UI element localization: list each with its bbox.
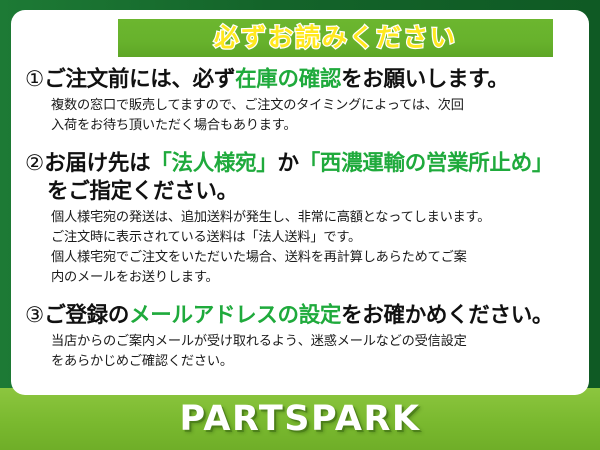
notice-item-3-body: 当店からのご案内メールが受け取れるよう、迷惑メールなどの受信設定 をあらかじめご… bbox=[25, 332, 581, 372]
notice-item-1-body: 複数の窓口で販売してますので、ご注文のタイミングによっては、次回 入荷をお待ち頂… bbox=[25, 96, 581, 136]
item-marker-2: ② bbox=[25, 151, 44, 176]
notice-item-3-heading: ③ご登録のメールアドレスの設定をお確かめください。 bbox=[25, 302, 581, 330]
item-3-body-line-2: をあらかじめご確認ください。 bbox=[51, 352, 581, 372]
item-1-heading-part-3: をお願いします。 bbox=[341, 67, 508, 92]
item-3-heading-highlight: メールアドレスの設定 bbox=[129, 303, 341, 328]
notice-content-card: 必ずお読みください ①ご注文前には、必ず在庫の確認をお願いします。 複数の窓口で… bbox=[11, 10, 589, 395]
notice-items-list: ①ご注文前には、必ず在庫の確認をお願いします。 複数の窓口で販売してますので、ご… bbox=[11, 64, 589, 372]
page-title: 必ずお読みください bbox=[118, 19, 553, 57]
notice-item-3: ③ご登録のメールアドレスの設定をお確かめください。 当店からのご案内メールが受け… bbox=[11, 302, 589, 372]
item-1-body-line-2: 入荷をお待ち頂いただく場合もあります。 bbox=[51, 116, 581, 136]
item-2-body-line-3: 個人様宅宛でご注文をいただいた場合、送料を再計算しあらためてご案 bbox=[51, 248, 581, 268]
item-3-heading-part-3: をお確かめください。 bbox=[341, 303, 553, 328]
item-1-heading-highlight: 在庫の確認 bbox=[235, 67, 341, 92]
item-2-heading-highlight-1: 「法人様宛」 bbox=[150, 151, 277, 176]
notice-item-2: ②お届け先は「法人様宛」か「西濃運輸の営業所止め」 をご指定ください。 個人様宅… bbox=[11, 150, 589, 288]
item-2-heading-highlight-2: 「西濃運輸の営業所止め」 bbox=[299, 151, 553, 176]
item-3-body-line-1: 当店からのご案内メールが受け取れるよう、迷惑メールなどの受信設定 bbox=[51, 332, 581, 352]
item-2-body-line-2: ご注文時に表示されている送料は「法人送料」です。 bbox=[51, 228, 581, 248]
item-marker-1: ① bbox=[25, 67, 44, 92]
item-2-body-line-1: 個人様宅宛の発送は、追加送料が発生し、非常に高額となってしまいます。 bbox=[51, 208, 581, 228]
item-2-heading-line-2: をご指定ください。 bbox=[25, 178, 581, 206]
item-2-heading-part-1: お届け先は bbox=[44, 151, 150, 176]
item-2-heading-part-3: か bbox=[278, 151, 299, 176]
notice-item-1: ①ご注文前には、必ず在庫の確認をお願いします。 複数の窓口で販売してますので、ご… bbox=[11, 66, 589, 136]
notice-item-2-heading: ②お届け先は「法人様宛」か「西濃運輸の営業所止め」 をご指定ください。 bbox=[25, 150, 581, 206]
item-1-body-line-1: 複数の窓口で販売してますので、ご注文のタイミングによっては、次回 bbox=[51, 96, 581, 116]
notice-item-2-body: 個人様宅宛の発送は、追加送料が発生し、非常に高額となってしまいます。 ご注文時に… bbox=[25, 208, 581, 288]
item-2-body-line-4: 内のメールをお送りします。 bbox=[51, 268, 581, 288]
item-1-heading-part-1: ご注文前には、必ず bbox=[44, 67, 235, 92]
item-3-heading-part-1: ご登録の bbox=[44, 303, 129, 328]
notice-item-1-heading: ①ご注文前には、必ず在庫の確認をお願いします。 bbox=[25, 66, 581, 94]
item-marker-3: ③ bbox=[25, 303, 44, 328]
brand-logo: PARTSPARK bbox=[0, 393, 600, 445]
notice-banner: 必ずお読みください ①ご注文前には、必ず在庫の確認をお願いします。 複数の窓口で… bbox=[0, 0, 600, 450]
